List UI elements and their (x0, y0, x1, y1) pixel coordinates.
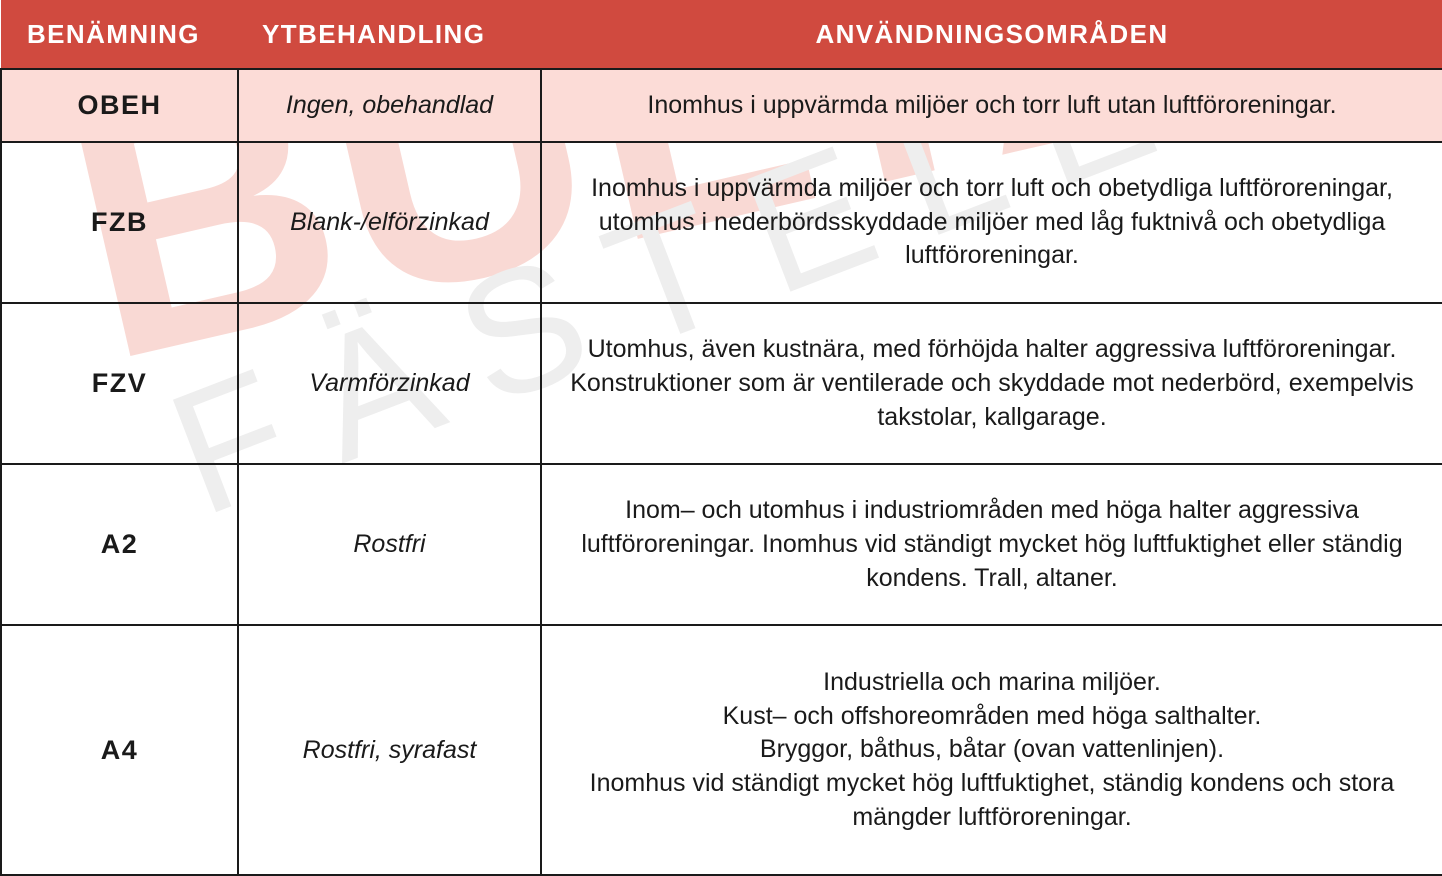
cell-benamning: A2 (1, 464, 238, 625)
table-header-row: BENÄMNING YTBEHANDLING ANVÄNDNINGSOMRÅDE… (1, 0, 1442, 69)
surface-treatment-table-container: BULTAB FÄSTELEMENT BENÄMNING YTBEHANDLIN… (0, 0, 1442, 876)
cell-anvandningsomraden: Inom– och utomhus i industriområden med … (541, 464, 1442, 625)
cell-ytbehandling: Varmförzinkad (238, 303, 541, 464)
surface-treatment-table: BENÄMNING YTBEHANDLING ANVÄNDNINGSOMRÅDE… (0, 0, 1442, 876)
cell-anvandningsomraden: Inomhus i uppvärmda miljöer och torr luf… (541, 142, 1442, 303)
column-header-benamning: BENÄMNING (1, 0, 238, 69)
table-row: OBEHIngen, obehandladInomhus i uppvärmda… (1, 69, 1442, 142)
cell-ytbehandling: Blank-/elförzinkad (238, 142, 541, 303)
cell-benamning: FZV (1, 303, 238, 464)
cell-anvandningsomraden: Industriella och marina miljöer. Kust– o… (541, 625, 1442, 875)
table-header: BENÄMNING YTBEHANDLING ANVÄNDNINGSOMRÅDE… (1, 0, 1442, 69)
cell-anvandningsomraden: Utomhus, även kustnära, med förhöjda hal… (541, 303, 1442, 464)
table-row: A2RostfriInom– och utomhus i industriomr… (1, 464, 1442, 625)
table-body: OBEHIngen, obehandladInomhus i uppvärmda… (1, 69, 1442, 875)
cell-benamning: FZB (1, 142, 238, 303)
cell-ytbehandling: Rostfri, syrafast (238, 625, 541, 875)
cell-ytbehandling: Ingen, obehandlad (238, 69, 541, 142)
table-row: FZBBlank-/elförzinkadInomhus i uppvärmda… (1, 142, 1442, 303)
column-header-anvandningsomraden: ANVÄNDNINGSOMRÅDEN (541, 0, 1442, 69)
cell-ytbehandling: Rostfri (238, 464, 541, 625)
table-row: A4Rostfri, syrafastIndustriella och mari… (1, 625, 1442, 875)
table-row: FZVVarmförzinkadUtomhus, även kustnära, … (1, 303, 1442, 464)
cell-anvandningsomraden: Inomhus i uppvärmda miljöer och torr luf… (541, 69, 1442, 142)
cell-benamning: A4 (1, 625, 238, 875)
cell-benamning: OBEH (1, 69, 238, 142)
column-header-ytbehandling: YTBEHANDLING (238, 0, 541, 69)
